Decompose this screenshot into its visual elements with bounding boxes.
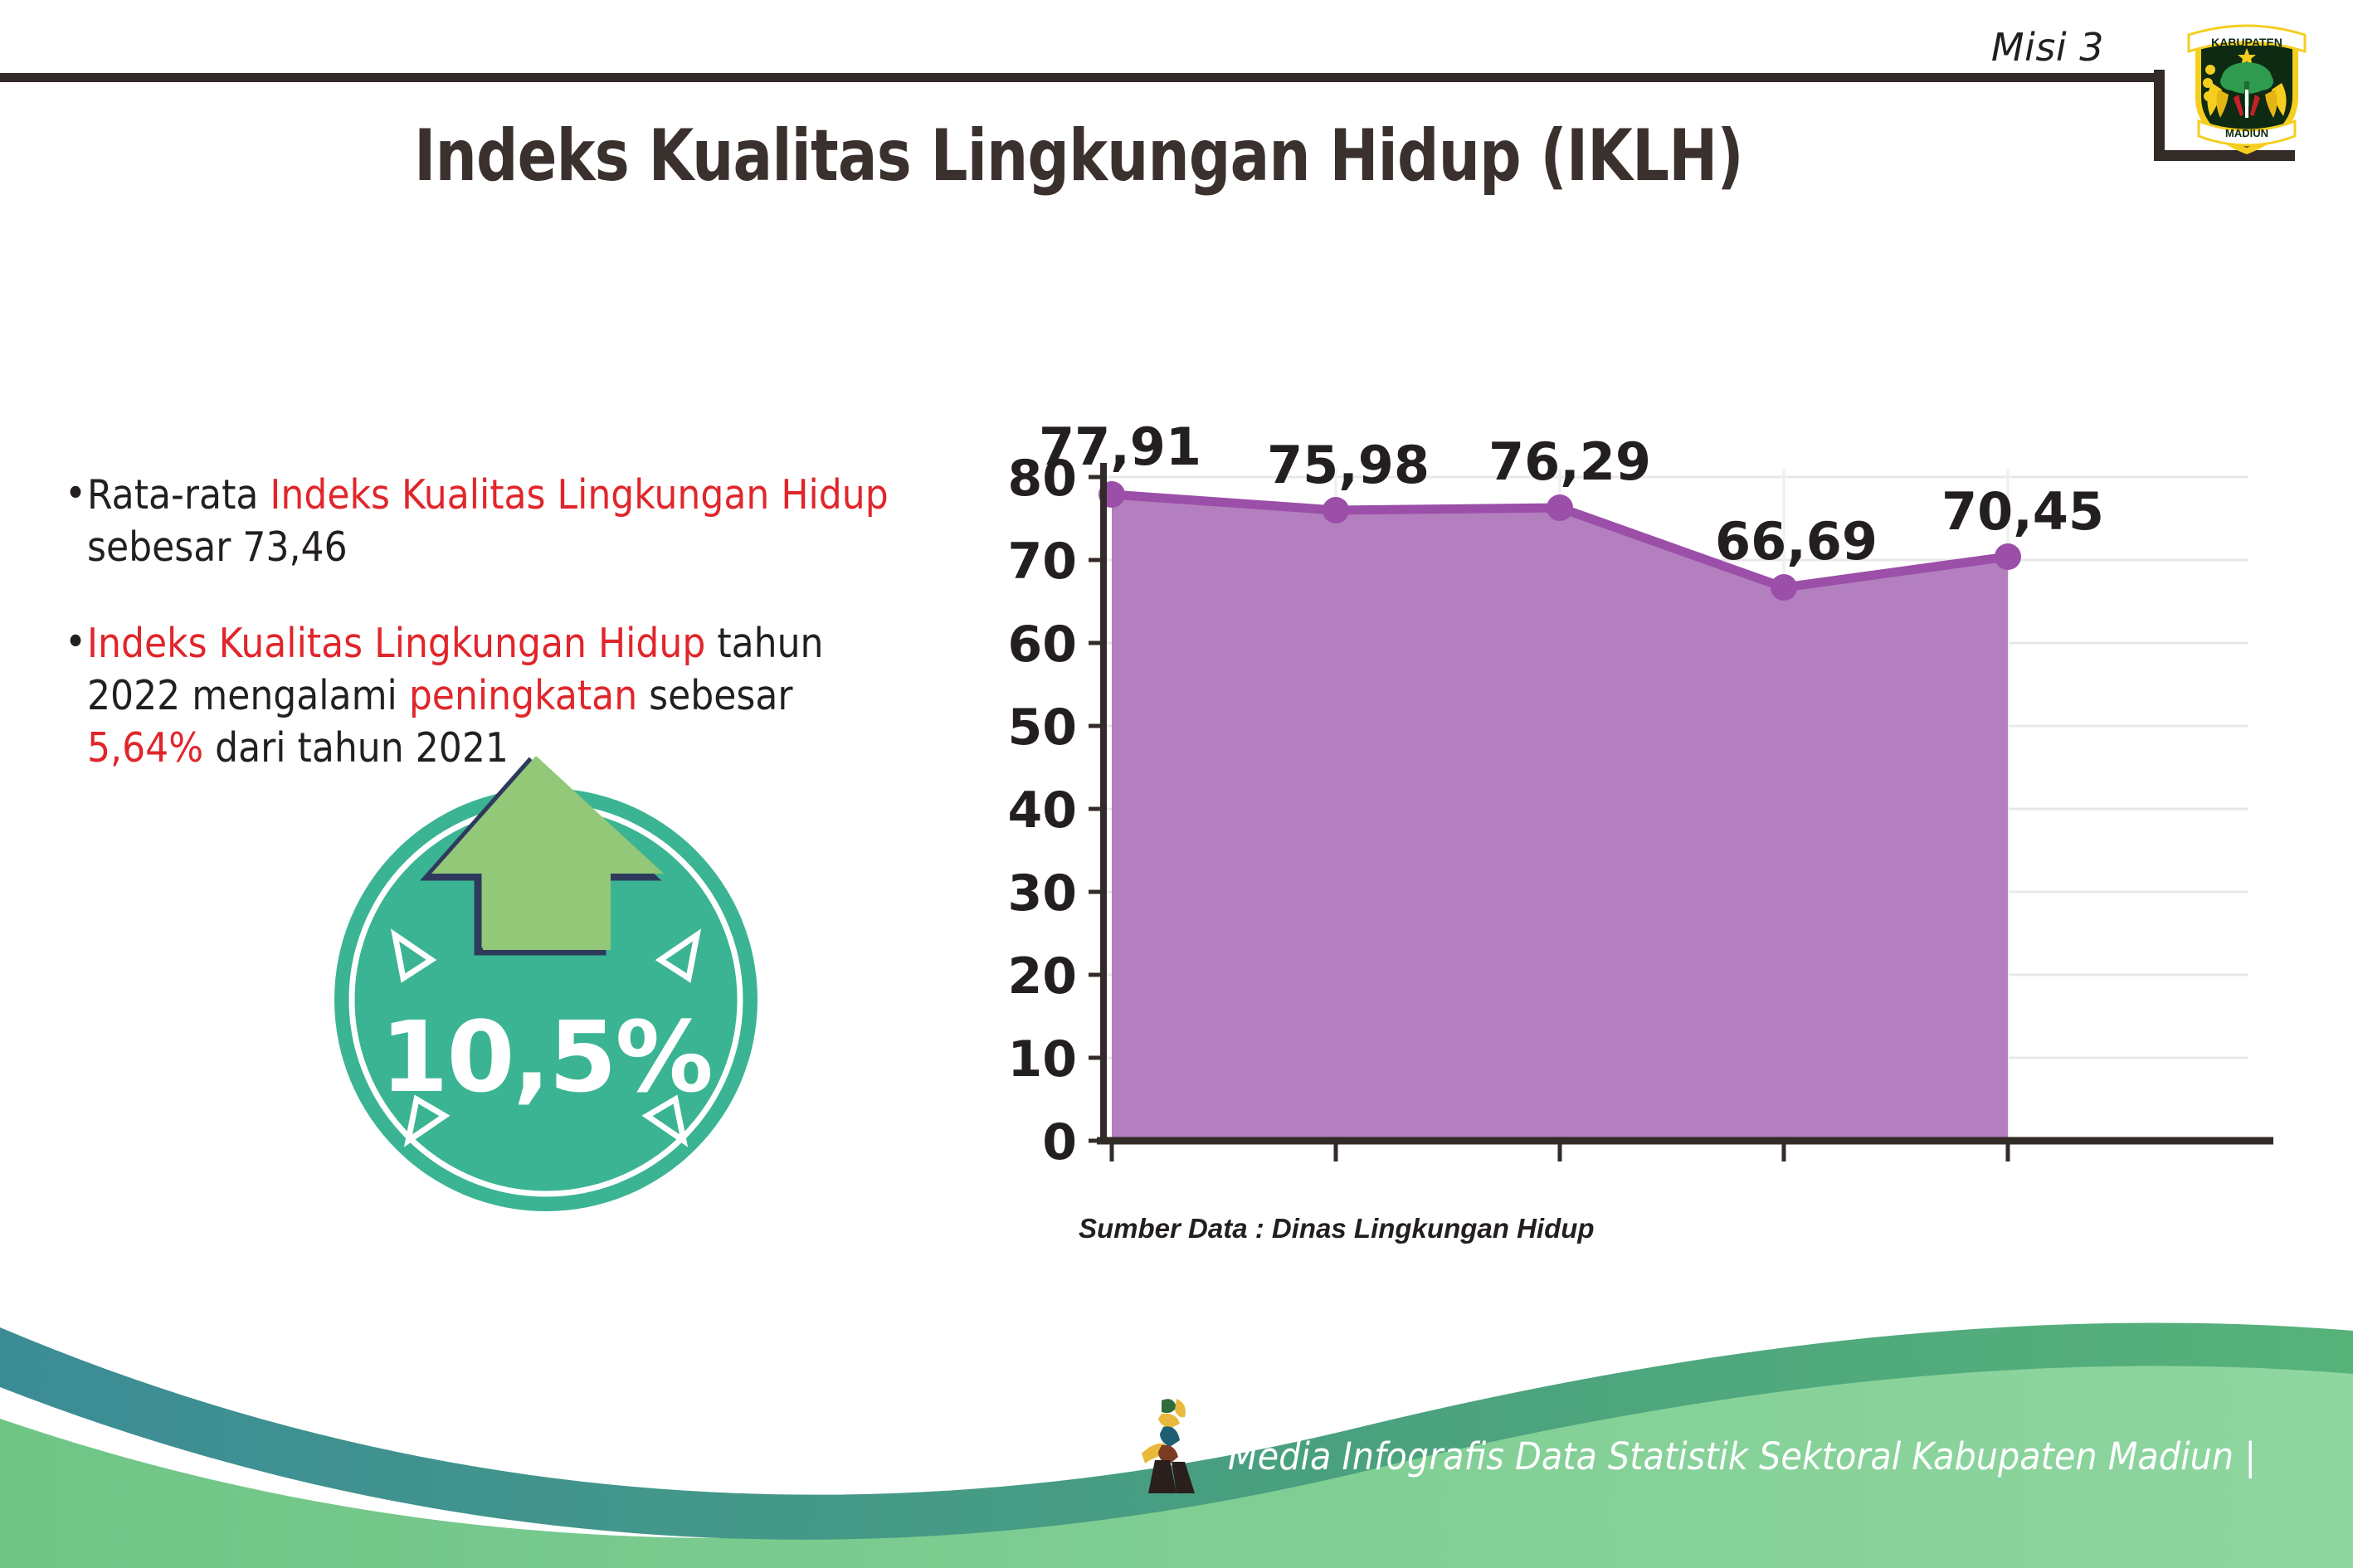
kabupaten-madiun-emblem-icon: KABUPATEN MADIUN — [2180, 18, 2313, 158]
y-tick-label: 10 — [1008, 1030, 1078, 1088]
data-label: 76,29 — [1488, 431, 1651, 492]
bullet-marker: • — [65, 616, 86, 669]
emblem-bottom-label: MADIUN — [2225, 127, 2268, 139]
slide-canvas: Misi 3 KABUPATEN — [0, 0, 2353, 1568]
badge-value: 10,5% — [322, 1000, 770, 1114]
data-label: 66,69 — [1715, 511, 1878, 572]
y-tick-label: 30 — [1008, 864, 1078, 923]
y-tick-label: 60 — [1008, 616, 1078, 674]
bullet-text-segment: sebesar 73,46 — [87, 523, 348, 571]
bullet-text-segment-highlight: Indeks Kualitas Lingkungan Hidup — [270, 471, 888, 519]
mission-label: Misi 3 — [1991, 25, 2104, 70]
bullet-marker: • — [65, 468, 86, 520]
bullet-text-segment: Rata-rata — [87, 471, 270, 519]
y-tick-label: 40 — [1008, 782, 1078, 840]
data-label: 77,91 — [1039, 416, 1201, 477]
header-bracket-vertical — [2154, 70, 2165, 161]
footer-caption: Media Infografis Data Statistik Sektoral… — [1228, 1434, 2256, 1478]
page-title: Indeks Kualitas Lingkungan Hidup (IKLH) — [194, 114, 1963, 197]
y-tick-label: 0 — [1042, 1113, 1077, 1161]
iklh-area-chart: 80 70 60 50 40 30 20 10 0 77,91 75,98 76… — [979, 299, 2273, 1161]
media-infografis-logo-icon — [1137, 1395, 1213, 1495]
header-rule — [0, 73, 2154, 82]
bullet-text-segment-highlight: 5,64% — [87, 724, 215, 772]
bullet-text-segment-highlight: peningkatan — [409, 672, 649, 719]
growth-badge: 10,5% — [322, 751, 770, 1215]
list-item: • Rata-rata Indeks Kualitas Lingkungan H… — [65, 470, 901, 573]
emblem-top-label: KABUPATEN — [2211, 36, 2282, 49]
y-tick-label: 20 — [1008, 947, 1078, 1006]
chart-source-note: Sumber Data : Dinas Lingkungan Hidup — [1079, 1213, 1595, 1244]
data-label: 75,98 — [1267, 435, 1430, 495]
y-tick-label: 50 — [1008, 699, 1078, 757]
y-tick-label: 70 — [1008, 533, 1078, 591]
bullet-text-segment-highlight: Indeks Kualitas Lingkungan Hidup — [87, 620, 717, 667]
chart-y-tick-labels: 80 70 60 50 40 30 20 10 0 — [1008, 450, 1078, 1161]
data-label: 70,45 — [1941, 481, 2104, 542]
chart-area-fill — [1112, 494, 2008, 1141]
bullet-text-segment: sebesar — [649, 672, 792, 719]
